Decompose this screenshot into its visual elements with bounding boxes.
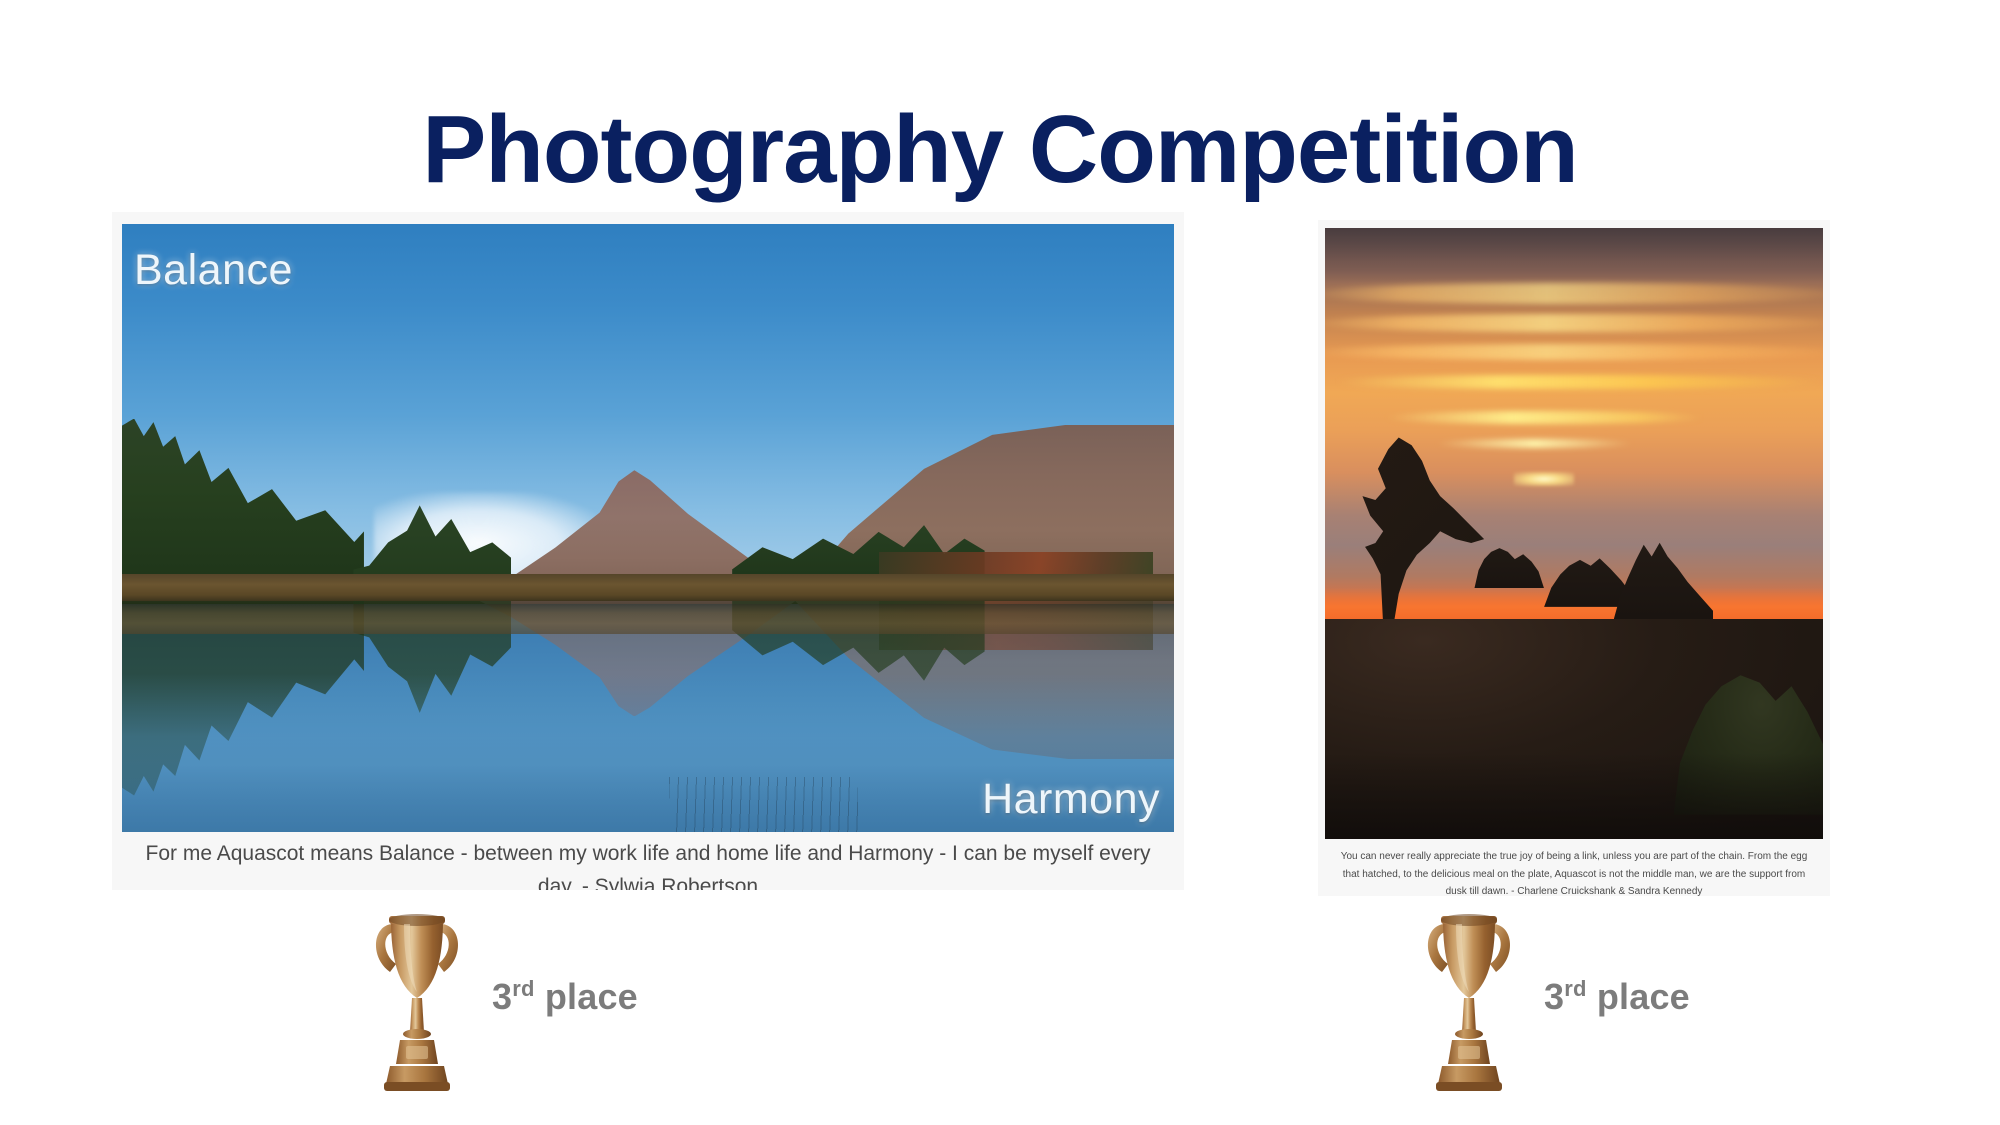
place-word-text: place — [1597, 976, 1690, 1017]
sunset-illustration — [1325, 228, 1823, 839]
cloud-band — [1385, 411, 1704, 423]
loch-illustration — [122, 224, 1174, 832]
entry-card-left: Balance Harmony For me Aquascot means Ba… — [112, 212, 1184, 890]
cloud-band — [1325, 314, 1823, 332]
entry-caption-left: For me Aquascot means Balance - between … — [138, 838, 1158, 890]
photo-overlay-word-harmony: Harmony — [982, 775, 1160, 824]
award-label-right: 3rd place — [1544, 976, 1690, 1018]
photo-right-sunset — [1325, 228, 1823, 839]
place-number: 3 — [492, 976, 512, 1017]
reeds — [669, 777, 858, 832]
shoreline — [122, 574, 1174, 604]
cloud-band — [1325, 375, 1823, 390]
dark-cloud-top — [1325, 228, 1823, 283]
place-ordinal-suffix: rd — [1564, 976, 1586, 1001]
photo-overlay-word-balance: Balance — [134, 246, 293, 295]
place-number: 3 — [1544, 976, 1564, 1017]
place-word-text: place — [545, 976, 638, 1017]
place-word — [535, 976, 545, 1017]
page-title: Photography Competition — [0, 100, 2000, 201]
reflection-shoreline — [122, 604, 1174, 634]
award-label-left: 3rd place — [492, 976, 638, 1018]
cloud-band — [1325, 344, 1823, 360]
award-left: 3rd place — [370, 898, 638, 1096]
trophy-icon — [370, 898, 464, 1096]
place-ordinal-suffix: rd — [512, 976, 534, 1001]
slide-canvas: Photography Competition — [0, 0, 2000, 1125]
cloud-band — [1325, 283, 1823, 304]
photo-left-loch-reflection: Balance Harmony — [122, 224, 1174, 832]
award-right: 3rd place — [1422, 898, 1690, 1096]
trophy-icon — [1422, 898, 1516, 1096]
cloud-band — [1435, 439, 1634, 448]
entry-card-right: You can never really appreciate the true… — [1318, 220, 1830, 896]
place-word — [1587, 976, 1597, 1017]
bottom-shadow — [1325, 753, 1823, 839]
sun-glint — [1514, 472, 1574, 485]
entry-caption-right: You can never really appreciate the true… — [1332, 848, 1816, 896]
